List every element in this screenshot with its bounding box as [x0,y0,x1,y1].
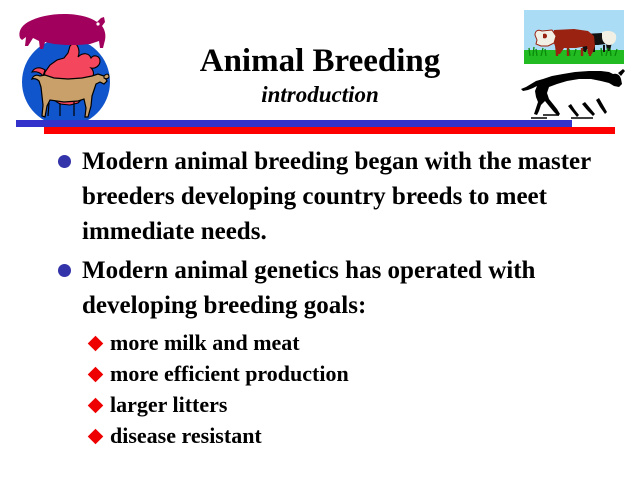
bullet-diamond-icon [88,367,104,383]
list-item-label: Modern animal breeding began with the ma… [82,148,591,245]
list-item: Modern animal breeding began with the ma… [0,144,640,249]
slide-body: Modern animal breeding began with the ma… [0,144,640,451]
divider-blue [16,120,572,127]
list-item: more efficient production [0,358,640,389]
list-item: more milk and meat [0,327,640,358]
list-item-label: more efficient production [110,361,349,386]
bullet-dot-icon [58,155,71,168]
list-item-label: more milk and meat [110,330,300,355]
bullet-diamond-icon [88,429,104,445]
slide-header: Animal Breeding introduction [0,0,640,136]
list-item: disease resistant [0,420,640,451]
cattle-pasture-photo [524,10,624,64]
list-item-label: Modern animal genetics has operated with… [82,257,535,319]
title-block: Animal Breeding introduction [130,42,510,108]
bullet-dot-icon [58,264,71,277]
photo-grass [524,50,624,64]
page-title: Animal Breeding [130,42,510,80]
bullet-diamond-icon [88,336,104,352]
horse-dust [531,115,593,118]
sub-list: more milk and meat more efficient produc… [0,327,640,451]
divider-red [44,127,615,134]
list-item-label: disease resistant [110,423,262,448]
bullet-diamond-icon [88,398,104,414]
pig-shape [19,14,105,49]
list-item: larger litters [0,389,640,420]
page-subtitle: introduction [130,81,510,108]
list-item: Modern animal genetics has operated with… [0,253,640,323]
livestock-logo [12,4,120,128]
list-item-label: larger litters [110,392,227,417]
galloping-horse-silhouette [519,68,627,124]
